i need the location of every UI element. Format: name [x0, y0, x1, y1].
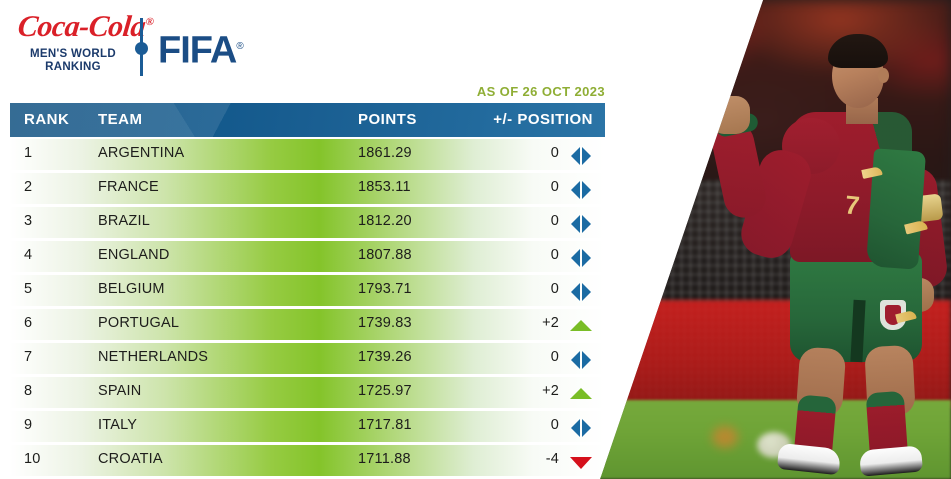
- coca-cola-logo: Coca-Cola®: [16, 12, 154, 42]
- row-team: FRANCE: [98, 179, 159, 195]
- row-team: ENGLAND: [98, 247, 170, 263]
- row-delta: 0: [505, 417, 559, 433]
- row-points: 1861.29: [358, 145, 412, 161]
- row-points: 1853.11: [358, 179, 411, 195]
- row-points: 1717.81: [358, 417, 412, 433]
- up-arrow-icon: [567, 317, 595, 335]
- coca-cola-subtitle: MEN'S WORLD RANKING: [18, 48, 128, 74]
- row-points: 1807.88: [358, 247, 412, 263]
- row-team: PORTUGAL: [98, 315, 179, 331]
- fifa-logo: FIFA®: [158, 28, 243, 70]
- logo-divider-dot-icon: [135, 42, 148, 55]
- fifa-wordmark: FIFA: [158, 30, 236, 72]
- same-position-icon: [567, 181, 595, 199]
- row-rank: 10: [24, 451, 68, 467]
- row-points: 1812.20: [358, 213, 412, 229]
- row-delta: +2: [505, 315, 559, 331]
- row-rank: 5: [24, 281, 68, 297]
- row-team: SPAIN: [98, 383, 141, 399]
- up-arrow-icon: [567, 385, 595, 403]
- row-points: 1725.97: [358, 383, 412, 399]
- as-of-date: AS OF 26 OCT 2023: [352, 84, 605, 99]
- table-row[interactable]: 1ARGENTINA1861.290: [10, 139, 605, 170]
- row-rank: 8: [24, 383, 68, 399]
- ranking-graphic: 7 Coca-Cola® MEN'S WORLD RANKING: [0, 0, 951, 479]
- column-header-position: +/- POSITION: [493, 111, 593, 128]
- table-header: RANK TEAM POINTS +/- POSITION: [10, 103, 605, 137]
- coca-cola-trademark-icon: ®: [145, 16, 154, 28]
- row-delta: 0: [505, 145, 559, 161]
- column-header-rank: RANK: [24, 111, 69, 128]
- same-position-icon: [567, 419, 595, 437]
- row-rank: 7: [24, 349, 68, 365]
- row-points: 1739.83: [358, 315, 412, 331]
- same-position-icon: [567, 283, 595, 301]
- table-row[interactable]: 7NETHERLANDS1739.260: [10, 340, 605, 374]
- same-position-icon: [567, 147, 595, 165]
- row-delta: 0: [505, 213, 559, 229]
- row-rank: 6: [24, 315, 68, 331]
- table-row[interactable]: 3BRAZIL1812.200: [10, 204, 605, 238]
- row-delta: -4: [505, 451, 559, 467]
- row-points: 1793.71: [358, 281, 412, 297]
- player-right-boot: [859, 445, 923, 476]
- same-position-icon: [567, 215, 595, 233]
- row-rank: 9: [24, 417, 68, 433]
- column-header-points: POINTS: [358, 111, 417, 128]
- row-delta: +2: [505, 383, 559, 399]
- row-rank: 1: [24, 145, 68, 161]
- table-row[interactable]: 5BELGIUM1793.710: [10, 272, 605, 306]
- row-rank: 2: [24, 179, 68, 195]
- row-team: BELGIUM: [98, 281, 165, 297]
- row-rank: 4: [24, 247, 68, 263]
- table-row[interactable]: 9ITALY1717.810: [10, 408, 605, 442]
- table-row[interactable]: 2FRANCE1853.110: [10, 170, 605, 204]
- coca-cola-subtitle-line2: RANKING: [45, 61, 101, 73]
- same-position-icon: [567, 249, 595, 267]
- row-team: NETHERLANDS: [98, 349, 208, 365]
- row-delta: 0: [505, 281, 559, 297]
- player-ear: [878, 68, 889, 83]
- coca-cola-wordmark: Coca-Cola: [16, 10, 147, 43]
- table-row[interactable]: 10CROATIA1711.88-4: [10, 442, 605, 476]
- row-team: ITALY: [98, 417, 137, 433]
- row-team: CROATIA: [98, 451, 163, 467]
- coca-cola-subtitle-line1: MEN'S WORLD: [30, 48, 116, 60]
- ranking-table: 1ARGENTINA1861.2902FRANCE1853.1103BRAZIL…: [10, 139, 605, 476]
- background-blur-blob: [712, 426, 738, 448]
- row-rank: 3: [24, 213, 68, 229]
- down-arrow-icon: [567, 453, 595, 471]
- same-position-icon: [567, 351, 595, 369]
- table-row[interactable]: 4ENGLAND1807.880: [10, 238, 605, 272]
- row-delta: 0: [505, 247, 559, 263]
- table-row[interactable]: 8SPAIN1725.97+2: [10, 374, 605, 408]
- column-header-team: TEAM: [98, 111, 143, 128]
- row-delta: 0: [505, 349, 559, 365]
- table-row[interactable]: 6PORTUGAL1739.83+2: [10, 306, 605, 340]
- row-delta: 0: [505, 179, 559, 195]
- logo-lockup: Coca-Cola® MEN'S WORLD RANKING FIFA®: [18, 12, 248, 78]
- row-points: 1711.88: [358, 451, 411, 467]
- row-points: 1739.26: [358, 349, 412, 365]
- row-team: BRAZIL: [98, 213, 150, 229]
- row-team: ARGENTINA: [98, 145, 184, 161]
- fifa-trademark-icon: ®: [236, 41, 242, 52]
